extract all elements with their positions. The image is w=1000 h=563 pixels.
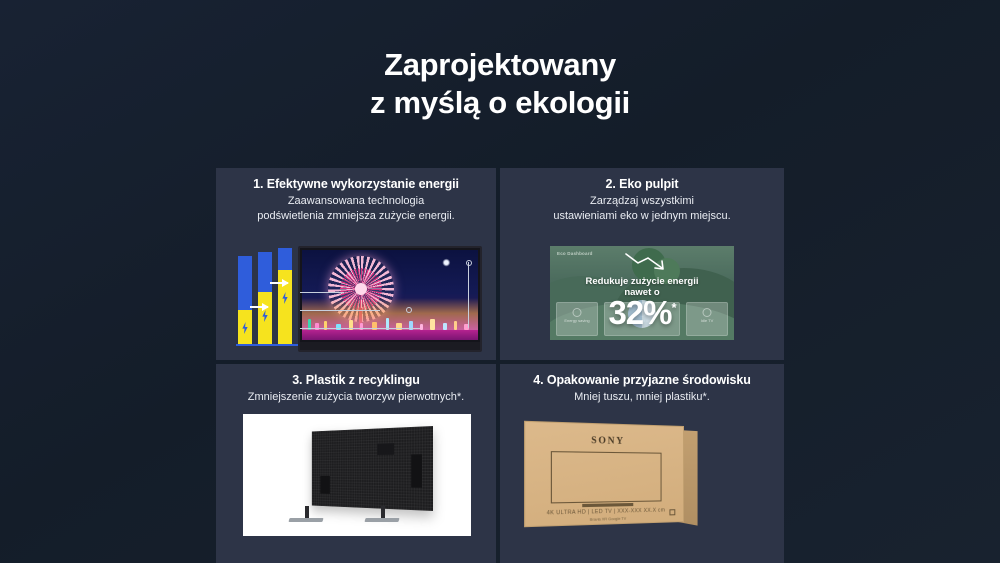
feature-panel-grid: 1. Efektywne wykorzystanie energii Zaawa…	[216, 168, 784, 563]
title-line-2: z myślą o ekologii	[0, 84, 1000, 122]
declining-arrow-icon	[624, 252, 674, 274]
panel-4-subtitle: Mniej tuszu, mniej plastiku*.	[500, 387, 784, 405]
recycling-mark-icon	[669, 509, 675, 515]
callout-line	[298, 292, 344, 293]
callout-line-vertical	[468, 262, 469, 328]
panel-4-heading: 4. Opakowanie przyjazne środowisku	[500, 364, 784, 387]
box-front-face: SONY 4K ULTRA HD | LED TV | XXX-XXX XX.X…	[524, 421, 684, 527]
tv-outline-print	[551, 451, 662, 503]
energy-bar-3	[278, 248, 292, 344]
callout-dot	[406, 307, 412, 313]
tv-vesa-plate	[377, 443, 394, 455]
eco-feature-slide: Zaprojektowany z myślą o ekologii 1. Efe…	[0, 0, 1000, 563]
panel-2-subtitle-line-1: Zarządzaj wszystkimi	[506, 194, 778, 209]
page-title: Zaprojektowany z myślą o ekologii	[0, 46, 1000, 122]
panel-1-heading: 1. Efektywne wykorzystanie energii	[216, 168, 496, 191]
screen-bottom-glow	[302, 330, 478, 340]
tv-stand-foot	[364, 518, 399, 522]
energy-bar-1	[238, 256, 252, 344]
callout-line	[298, 328, 420, 329]
panel-3-subtitle: Zmniejszenie zużycia tworzyw pierwotnych…	[216, 387, 496, 405]
energy-bar-2	[258, 252, 272, 344]
tv-stand-foot	[288, 518, 323, 522]
eco-dashboard-label: Eco Dashboard	[557, 251, 593, 256]
panel-eco-packaging[interactable]: 4. Opakowanie przyjazne środowisku Mniej…	[500, 364, 784, 563]
panel-recycled-plastic[interactable]: 3. Plastik z recyklingu Zmniejszenie zuż…	[216, 364, 496, 563]
panel-3-subtitle-line-1: Zmniejszenie zużycia tworzyw pierwotnych…	[222, 390, 490, 405]
panel-1-subtitle: Zaawansowana technologia podświetlenia z…	[216, 191, 496, 223]
callout-line	[298, 310, 380, 311]
tv-front-image	[298, 246, 482, 352]
city-lights	[302, 304, 478, 330]
packaging-artwork: SONY 4K ULTRA HD | LED TV | XXX-XXX XX.X…	[518, 412, 766, 540]
tv-screen-content	[302, 250, 478, 340]
panel-3-heading: 3. Plastik z recyklingu	[216, 364, 496, 387]
title-line-1: Zaprojektowany	[0, 46, 1000, 84]
tv-rear-photo	[243, 414, 471, 536]
energy-chart-artwork	[232, 246, 482, 358]
eco-overlay-line-1: Redukuje zużycie energii	[550, 276, 734, 287]
panel-eco-dashboard[interactable]: 2. Eko pulpit Zarządzaj wszystkimi ustaw…	[500, 168, 784, 360]
tv-rear-body	[312, 426, 433, 511]
panel-2-subtitle-line-2: ustawieniami eko w jednym miejscu.	[506, 209, 778, 224]
tv-bezel-base	[300, 342, 480, 350]
tv-port-panel	[320, 476, 329, 494]
eco-dashboard-artwork: Eco Dashboard Energy saving Ambient ligh…	[550, 246, 734, 340]
panel-1-subtitle-line-2: podświetlenia zmniejsza zużycie energii.	[222, 209, 490, 224]
callout-dot	[466, 260, 472, 266]
panel-4-subtitle-line-1: Mniej tuszu, mniej plastiku*.	[506, 390, 778, 405]
eco-value-number: 32%	[608, 294, 671, 331]
sony-logo: SONY	[525, 433, 683, 447]
chart-baseline	[236, 344, 298, 346]
arrow-right-icon	[270, 282, 288, 284]
energy-bar-chart	[236, 250, 298, 352]
arrow-right-icon	[250, 306, 268, 308]
panel-2-heading: 2. Eko pulpit	[500, 168, 784, 191]
eco-value-asterisk: *	[672, 300, 676, 315]
eco-overlay-value: 32%*	[550, 294, 734, 332]
panel-1-subtitle-line-1: Zaawansowana technologia	[222, 194, 490, 209]
panel-2-subtitle: Zarządzaj wszystkimi ustawieniami eko w …	[500, 191, 784, 223]
tv-port-panel	[411, 454, 422, 488]
panel-energy-efficiency[interactable]: 1. Efektywne wykorzystanie energii Zaawa…	[216, 168, 496, 360]
